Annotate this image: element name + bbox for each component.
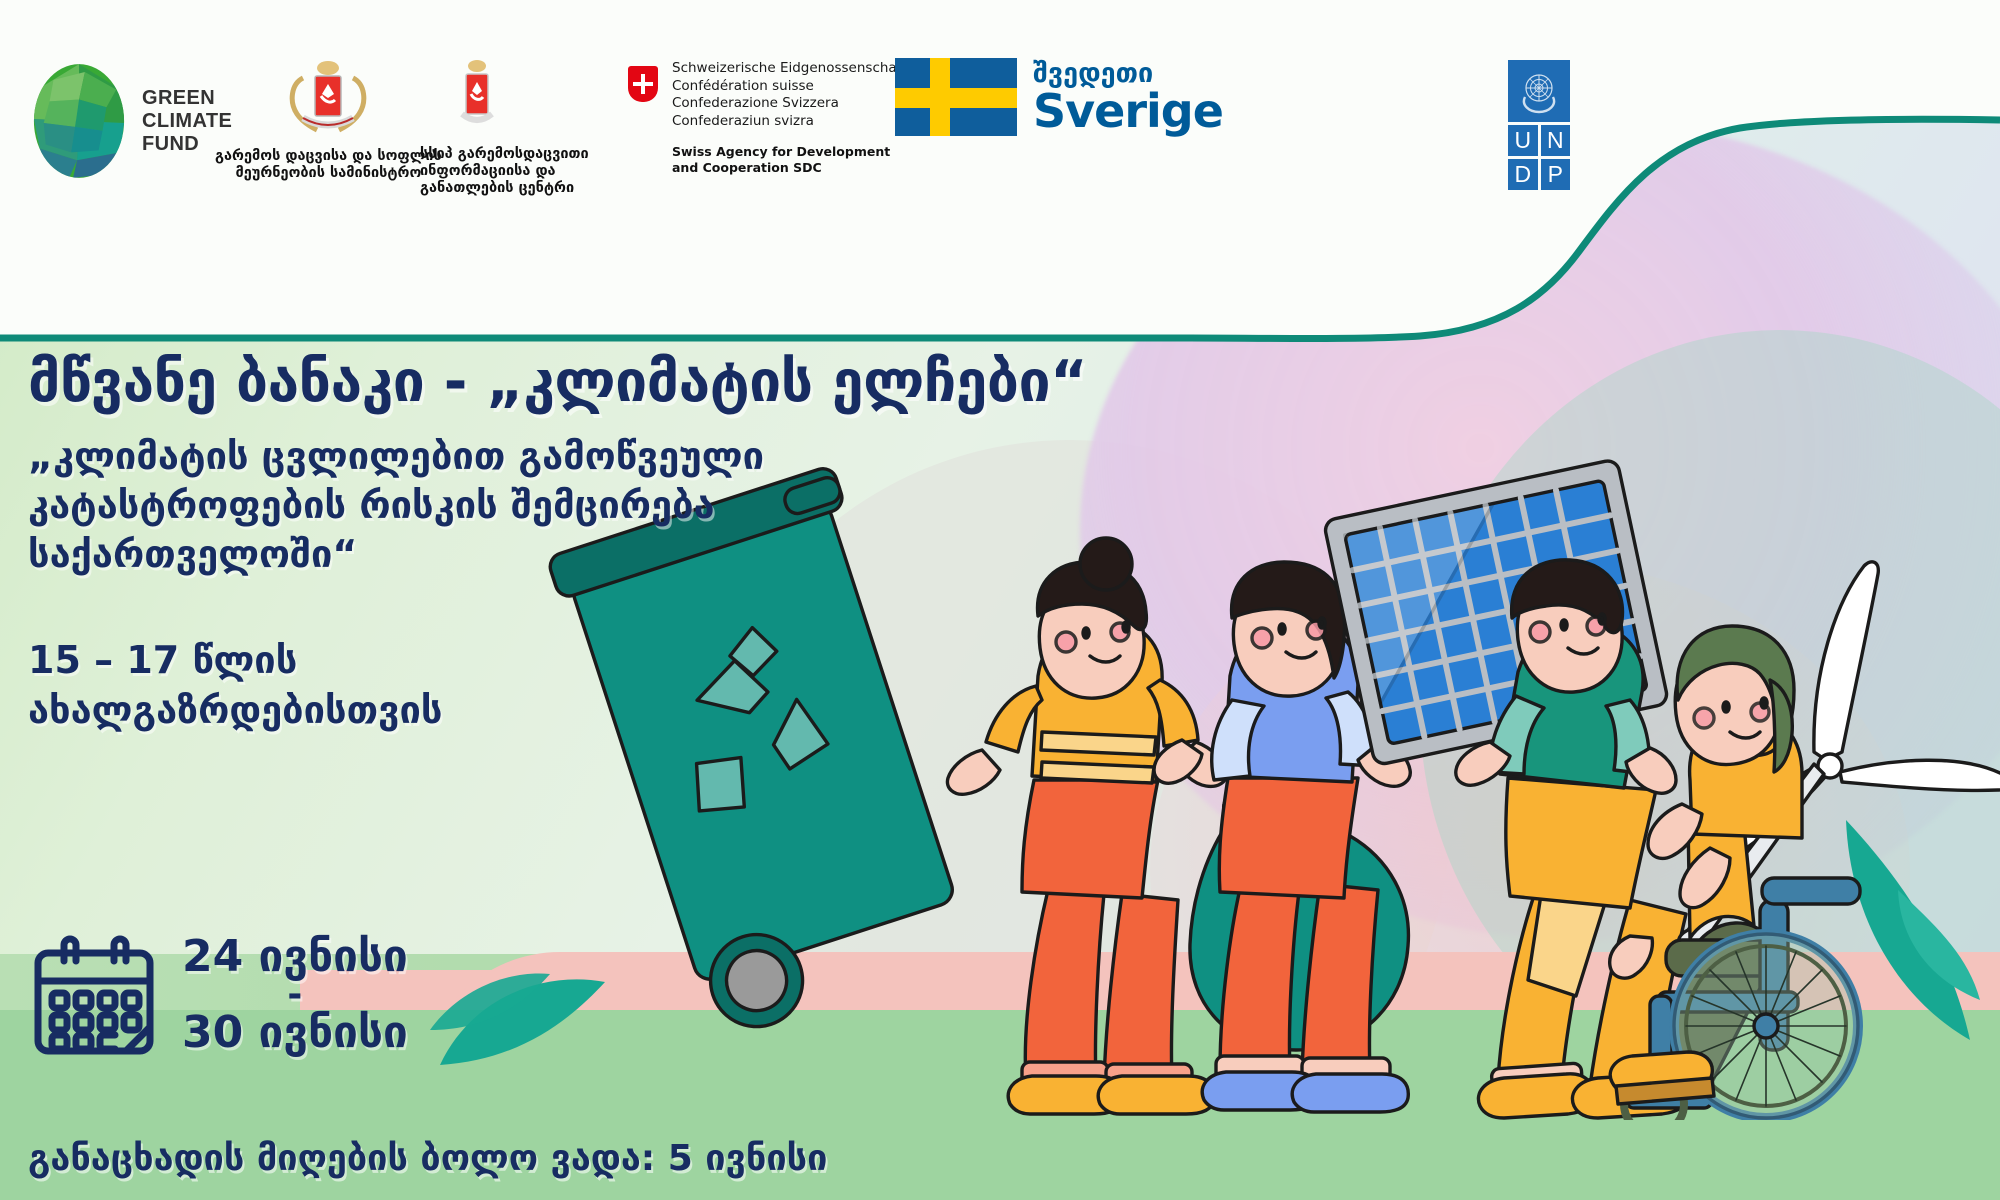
- swiss-sdc-line-1: Swiss Agency for Development: [672, 144, 907, 160]
- ministry-caption: გარემოს დაცვისა და სოფლის მეურნეობის სამ…: [215, 148, 442, 182]
- swiss-line-de: Schweizerische Eidgenossenschaft: [672, 60, 907, 78]
- poster: GREEN CLIMATE FUND გარემოს დაცვისა და სო…: [0, 0, 2000, 1200]
- partner-logos-strip: GREEN CLIMATE FUND გარემოს დაცვისა და სო…: [0, 0, 1620, 250]
- subtitle-line-1: „კლიმატის ცვლილებით გამოწვეული: [28, 432, 1028, 481]
- age-range-line-2: ახალგაზრდებისთვის: [28, 685, 1128, 735]
- undp-letter-d: D: [1508, 159, 1538, 190]
- logo-environmental-information-education-centre: სსიპ გარემოსდაცვითი ინფორმაციისა და განა…: [420, 56, 589, 197]
- page-title: მწვანე ბანაკი - „კლიმატის ელჩები“: [28, 350, 1128, 414]
- subtitle-line-3: საქართველოში“: [28, 530, 1028, 579]
- green-climate-fund-icon: [30, 62, 128, 180]
- eiec-caption-line-1: სსიპ გარემოსდაცვითი: [420, 146, 589, 163]
- event-dates-text: 24 ივნისი - 30 ივნისი: [182, 930, 408, 1060]
- swiss-confederation-names: Schweizerische Eidgenossenschaft Confédé…: [672, 60, 907, 175]
- swiss-line-rm: Confederaziun svizra: [672, 113, 907, 131]
- swiss-cross-icon: [628, 66, 658, 102]
- logo-swiss-confederation: Schweizerische Eidgenossenschaft Confédé…: [628, 60, 907, 175]
- ministry-caption-line-1: გარემოს დაცვისა და სოფლის: [215, 148, 442, 165]
- swiss-line-fr: Confédération suisse: [672, 78, 907, 96]
- eiec-caption: სსიპ გარემოსდაცვითი ინფორმაციისა და განა…: [420, 146, 589, 197]
- eiec-caption-line-3: განათლების ცენტრი: [420, 180, 589, 197]
- sweden-flag-icon: [895, 58, 1017, 136]
- swiss-line-it: Confederazione Svizzera: [672, 95, 907, 113]
- swiss-sdc-line-2: and Cooperation SDC: [672, 160, 907, 176]
- event-date-end: 30 ივნისი: [182, 1006, 408, 1060]
- georgia-coat-of-arms-icon: [273, 56, 383, 142]
- eiec-caption-line-2: ინფორმაციისა და: [420, 163, 589, 180]
- subtitle-line-2: კატასტროფების რისკის შემცირება: [28, 481, 1028, 530]
- sweden-wordmark-en: Sverige: [1033, 87, 1223, 135]
- age-range-line-1: 15 – 17 წლის: [28, 635, 1128, 685]
- event-dates-block: 24 ივნისი - 30 ივნისი: [30, 930, 408, 1060]
- eiec-crest-icon: [452, 56, 502, 142]
- event-date-separator: -: [182, 984, 408, 1006]
- main-copy-block: მწვანე ბანაკი - „კლიმატის ელჩები“ „კლიმა…: [28, 350, 1128, 735]
- sweden-wordmark: შვედეთი Sverige: [1033, 59, 1223, 135]
- undp-letter-u: U: [1508, 125, 1538, 156]
- application-deadline-text: განაცხადის მიღების ბოლო ვადა: 5 ივნისი: [28, 1138, 827, 1179]
- un-emblem-icon: [1508, 60, 1570, 122]
- calendar-icon: [30, 931, 158, 1059]
- logo-ministry-environmental-protection: გარემოს დაცვისა და სოფლის მეურნეობის სამ…: [215, 56, 442, 182]
- logo-undp: U N D P: [1508, 60, 1570, 190]
- logo-green-climate-fund: GREEN CLIMATE FUND: [30, 62, 232, 180]
- age-range-text: 15 – 17 წლის ახალგაზრდებისთვის: [28, 635, 1128, 735]
- swiss-sdc-caption: Swiss Agency for Development and Coopera…: [672, 144, 907, 175]
- ministry-caption-line-2: მეურნეობის სამინისტრო: [215, 165, 442, 182]
- undp-letter-grid: U N D P: [1508, 125, 1570, 190]
- undp-letter-n: N: [1541, 125, 1571, 156]
- undp-letter-p: P: [1541, 159, 1571, 190]
- logo-sweden-sverige: შვედეთი Sverige: [895, 58, 1223, 136]
- page-subtitle: „კლიმატის ცვლილებით გამოწვეული კატასტროფ…: [28, 432, 1028, 579]
